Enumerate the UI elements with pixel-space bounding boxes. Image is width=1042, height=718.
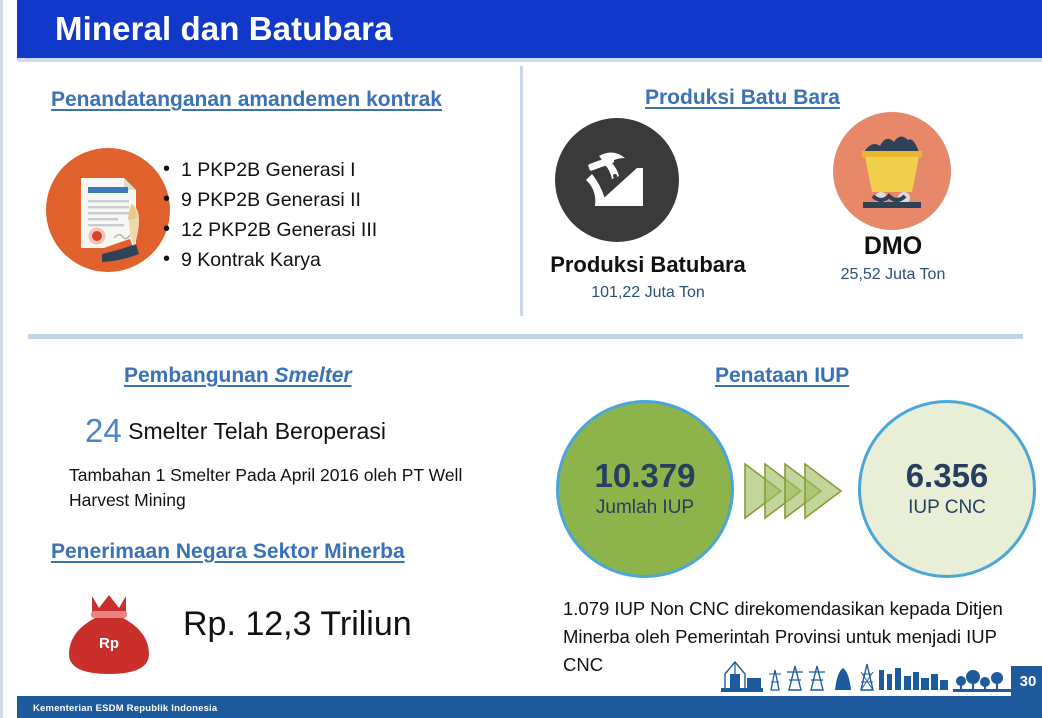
slide-header: Mineral dan Batubara [17,0,1042,58]
coal-cart-icon [833,112,951,230]
list-item: 9 Kontrak Karya [181,245,377,275]
industrial-skyline-icon [721,660,1011,696]
slide-canvas: Mineral dan Batubara Penandatanganan ama… [0,0,1042,718]
list-item: 9 PKP2B Generasi II [181,185,377,215]
revenue-section-heading: Penerimaan Negara Sektor Minerba [51,540,405,564]
revenue-value: Rp. 12,3 Triliun [183,605,412,644]
contract-document-icon [46,148,170,272]
page-number-badge: 30 [1011,666,1042,696]
smelter-heading-plain: Pembangunan [124,364,275,387]
dmo-value: 25,52 Juta Ton [823,266,963,284]
smelter-count: 24 [85,412,122,449]
iup-total-label: Jumlah IUP [596,497,694,519]
iup-cnc-label: IUP CNC [908,497,986,519]
footer-organization: Kementerian ESDM Republik Indonesia [33,703,217,714]
iup-cnc-number: 6.356 [906,459,989,494]
coal-production-value: 101,22 Juta Ton [543,284,753,302]
coal-production-heading: Produksi Batu Bara [645,86,840,110]
contract-section-heading: Penandatanganan amandemen kontrak [51,88,442,112]
page-title: Mineral dan Batubara [17,10,393,48]
coal-production-label: Produksi Batubara [543,252,753,278]
smelter-count-label: Smelter Telah Beroperasi [122,418,386,444]
chevron-arrows-icon [743,452,863,530]
iup-cnc-circle: 6.356 IUP CNC [858,400,1036,578]
smelter-operating-line: 24 Smelter Telah Beroperasi [85,412,485,450]
contract-items-list: 1 PKP2B Generasi I 9 PKP2B Generasi II 1… [161,155,377,275]
iup-total-number: 10.379 [595,459,696,494]
list-item: 1 PKP2B Generasi I [181,155,377,185]
money-bag-icon: Rp [61,592,157,678]
money-bag-label: Rp [99,635,119,652]
smelter-heading-italic: Smelter [275,364,352,387]
smelter-note: Tambahan 1 Smelter Pada April 2016 oleh … [69,463,489,513]
iup-section-heading: Penataan IUP [715,364,849,388]
horizontal-divider [28,334,1023,339]
pickaxe-mining-icon [555,118,679,242]
list-item: 12 PKP2B Generasi III [181,215,377,245]
header-underline [17,58,1042,62]
iup-total-circle: 10.379 Jumlah IUP [556,400,734,578]
vertical-divider [520,66,523,316]
dmo-label: DMO [841,232,945,261]
smelter-section-heading: Pembangunan Smelter [124,364,352,388]
